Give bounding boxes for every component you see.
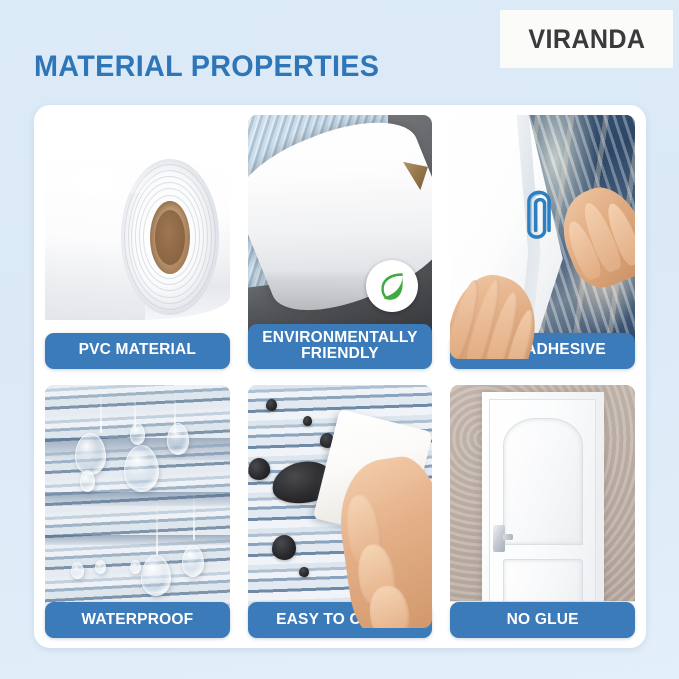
water-droplet <box>80 470 95 492</box>
water-droplet <box>130 423 145 445</box>
green-leaf-icon <box>366 260 418 312</box>
brand-name: VIRANDA <box>528 24 645 55</box>
brand-logo-badge: VIRANDA <box>500 10 673 68</box>
water-droplet <box>71 562 84 579</box>
door-handle <box>493 525 505 552</box>
water-droplet <box>130 560 141 575</box>
stain-mark <box>299 567 308 577</box>
easy-to-clean-image <box>248 385 433 629</box>
stain-mark <box>303 416 312 426</box>
page-title: MATERIAL PROPERTIES <box>34 50 379 84</box>
feature-card: PVC MATERIAL <box>34 105 646 648</box>
feature-label-pvc-material: PVC MATERIAL <box>45 333 230 369</box>
feature-label-waterproof: WATERPROOF <box>45 602 230 638</box>
droplet-trail <box>193 492 195 541</box>
pvc-highlight <box>45 169 156 193</box>
waterproof-image <box>45 385 230 629</box>
feature-item-pvc-material[interactable]: PVC MATERIAL <box>45 115 230 369</box>
surface-band <box>45 535 230 545</box>
feature-item-self-adhesive[interactable]: SELF-ADHESIVE <box>450 115 635 369</box>
droplet-trail <box>156 501 158 555</box>
environmentally-friendly-image <box>248 115 433 350</box>
feature-item-easy-to-clean[interactable]: EASY TO CLEAN <box>248 385 433 639</box>
water-droplet <box>75 433 106 474</box>
door-frame <box>482 392 604 628</box>
self-adhesive-image <box>450 115 635 359</box>
feature-grid: PVC MATERIAL <box>45 115 635 638</box>
water-droplet <box>182 545 204 577</box>
pvc-material-image <box>45 115 230 359</box>
pvc-cardboard-core <box>150 201 190 274</box>
feature-label-no-glue: NO GLUE <box>450 602 635 638</box>
stain-mark <box>272 535 296 559</box>
water-droplet <box>141 555 171 596</box>
paperclip-icon <box>521 188 557 246</box>
door-panel-top <box>503 418 583 545</box>
feature-label-environmentally-friendly: ENVIRONMENTALLY FRIENDLY <box>248 324 433 369</box>
white-door <box>489 399 596 628</box>
surface-band <box>45 492 230 507</box>
water-droplet <box>95 560 106 575</box>
no-glue-image <box>450 385 635 629</box>
feature-item-no-glue[interactable]: NO GLUE <box>450 385 635 639</box>
waterproof-surface-texture <box>45 385 230 629</box>
feature-item-waterproof[interactable]: WATERPROOF <box>45 385 230 639</box>
water-droplet <box>167 423 189 455</box>
feature-item-environmentally-friendly[interactable]: ENVIRONMENTALLY FRIENDLY <box>248 115 433 369</box>
